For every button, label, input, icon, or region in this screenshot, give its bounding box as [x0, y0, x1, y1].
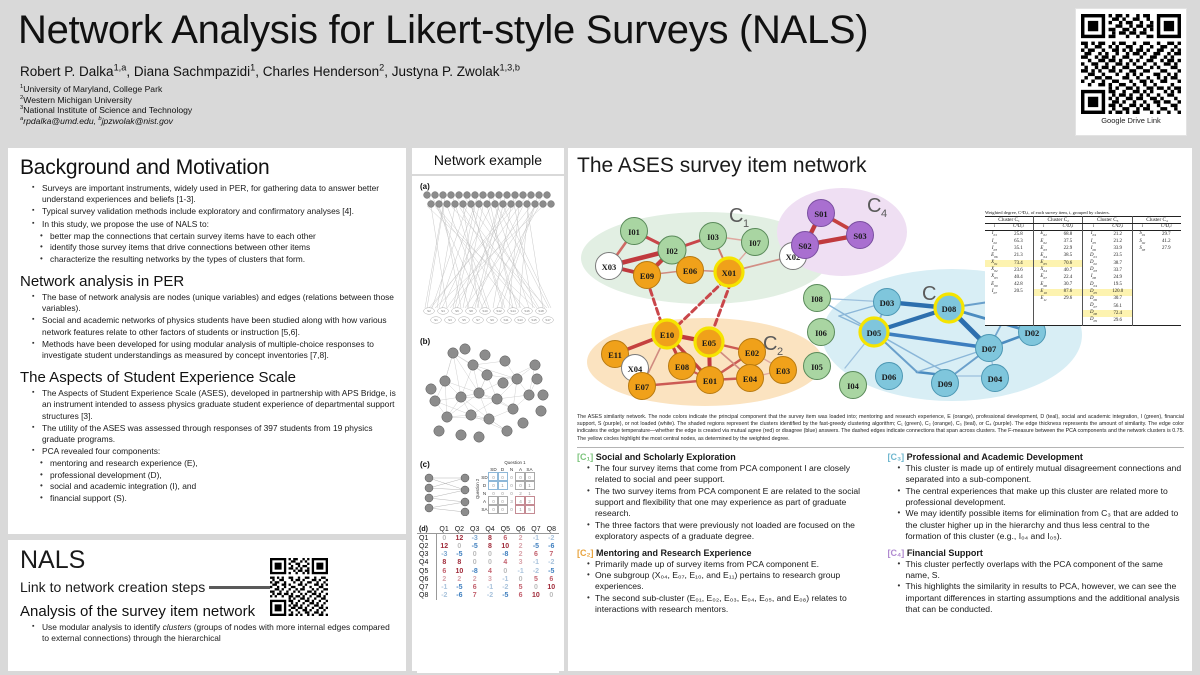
cell: -3	[467, 534, 482, 543]
qr-code-network-steps[interactable]	[270, 558, 328, 616]
cell-item	[1132, 282, 1151, 289]
col-header: i	[1132, 224, 1151, 231]
cell: 12	[452, 534, 467, 543]
qr-code-google-drive[interactable]: Google Drive Link	[1075, 8, 1187, 136]
cluster-tag: [C₁]	[577, 452, 593, 462]
col-header: SA	[525, 465, 534, 473]
cell: -1	[513, 567, 528, 575]
cell: 10	[452, 567, 467, 575]
cell-item: D06	[1083, 296, 1104, 303]
nals-panel: NALS Link to network creation steps	[8, 540, 406, 671]
background-subbullets: better map the connections that certain …	[20, 231, 396, 265]
cell: -5	[544, 567, 559, 575]
col-header: Q4	[482, 525, 497, 534]
cell: 1	[498, 481, 507, 489]
cell: 2	[513, 542, 528, 550]
svg-text:S16: S16	[524, 309, 530, 313]
cluster-heading-c3: [C₃] Professional and Academic Developme…	[888, 452, 1185, 462]
svg-text:D03: D03	[880, 298, 895, 308]
cell-item: E05	[1033, 260, 1053, 267]
svg-text:D07: D07	[982, 344, 997, 354]
cell-value: 70.6	[1053, 260, 1083, 267]
cell-value	[1152, 260, 1181, 267]
svg-text:S02: S02	[798, 241, 811, 251]
table-row: Q8-2-67-2-56100	[417, 592, 559, 600]
svg-text:D05: D05	[867, 328, 882, 338]
cell: 4	[516, 497, 525, 505]
figure-b-label: (b)	[420, 337, 430, 346]
group-header: Cluster C₃	[1083, 217, 1133, 224]
cell: -2	[436, 592, 451, 600]
cell: 0	[452, 542, 467, 550]
cell-value: 41.2	[1152, 239, 1181, 246]
analysis-bullets: Use modular analysis to identify cluster…	[20, 622, 396, 644]
cell-item	[985, 296, 1004, 303]
cell: 6	[544, 575, 559, 583]
cluster-heading-c1: [C₁] Social and Scholarly Exploration	[577, 452, 874, 462]
cell: 3	[507, 497, 516, 505]
svg-text:D04: D04	[988, 374, 1003, 384]
svg-text:S15: S15	[531, 318, 537, 322]
cell: 6	[436, 567, 451, 575]
cell-value: 68.8	[1053, 231, 1083, 239]
cell: 10	[544, 583, 559, 591]
cell: 7	[544, 551, 559, 559]
cell-value	[1004, 310, 1034, 317]
cell-value: 35.1	[1004, 246, 1034, 253]
list-item: In this study, we propose the use of NAL…	[34, 219, 396, 230]
row-header: SA	[480, 505, 489, 513]
table-row: Q62223-1056	[417, 575, 559, 583]
svg-text:S10: S10	[482, 309, 488, 313]
cell: 2	[436, 575, 451, 583]
row-header: Q8	[417, 592, 436, 600]
cluster-label-c3: C	[922, 283, 936, 305]
cell-item: X02	[985, 267, 1004, 274]
svg-text:S8: S8	[469, 309, 473, 313]
cell-value: 20.5	[1004, 289, 1034, 296]
list-item: PCA revealed four components:	[34, 446, 396, 457]
cell: 0	[498, 567, 513, 575]
cluster-column-right: [C₃] Professional and Academic Developme…	[888, 452, 1185, 621]
cluster-heading-c2: [C₂] Mentoring and Research Experience	[577, 548, 874, 558]
cell-item	[1132, 253, 1151, 260]
figure-a-svg: S2S4S6S8 S10S12S14S16S18 S1S3S5S7 S9S11S…	[417, 180, 559, 332]
cluster-tag: [C₂]	[577, 548, 594, 558]
contact-emails[interactable]: arpdalka@umd.edu, bjpzwolak@nist.gov	[20, 116, 192, 127]
cell: 3	[513, 559, 528, 567]
cell-value: 40.7	[1053, 267, 1083, 274]
svg-text:S2: S2	[427, 309, 431, 313]
svg-text:S1: S1	[434, 318, 438, 322]
list-item: The four survey items that come from PCA…	[588, 463, 874, 486]
cluster-title: Mentoring and Research Experience	[596, 548, 752, 558]
cell: -2	[482, 592, 497, 600]
cell-value: 73.4	[1004, 260, 1034, 267]
svg-text:S11: S11	[503, 318, 508, 322]
cell: 2	[516, 489, 525, 497]
list-item: The central experiences that make up thi…	[899, 486, 1185, 509]
table-row: Q3-3-500-8267	[417, 551, 559, 559]
cluster-column-left: [C₁] Social and Scholarly Exploration Th…	[577, 452, 874, 621]
list-item: characterize the resulting networks by t…	[40, 254, 396, 265]
page-title: Network Analysis for Likert-style Survey…	[18, 8, 868, 53]
qr-code-icon	[1081, 14, 1181, 114]
author-list: Robert P. Dalka1,a, Diana Sachmpazidi1, …	[20, 64, 520, 79]
col-header: Q2	[452, 525, 467, 534]
cell: 4	[482, 567, 497, 575]
list-item: social and academic integration (I), and	[40, 481, 396, 492]
cell-item: S01	[1132, 231, 1151, 239]
cell: -1	[436, 583, 451, 591]
cluster-bullets-c4: This cluster perfectly overlaps with the…	[888, 559, 1185, 616]
cell-item: E11	[1033, 296, 1053, 303]
contingency-table: SD D N A SA SD 0 0 0 0 0	[480, 465, 534, 513]
list-item: mentoring and research experience (E),	[40, 458, 396, 469]
svg-text:I03: I03	[707, 232, 719, 242]
row-header: N	[480, 489, 489, 497]
cluster-bullets-c1: The four survey items that come from PCA…	[577, 463, 874, 543]
cell-value	[1152, 253, 1181, 260]
cell: 10	[528, 592, 543, 600]
list-item: Methods have been developed for using mo…	[34, 339, 396, 361]
cell: -2	[528, 567, 543, 575]
col-header: Q1	[436, 525, 451, 534]
cell: -5	[467, 542, 482, 550]
cell: -2	[498, 583, 513, 591]
group-header: Cluster C₄	[1132, 217, 1181, 224]
svg-text:I08: I08	[811, 294, 823, 304]
col-header: Q5	[498, 525, 513, 534]
cell-value: 42.8	[1004, 282, 1034, 289]
cell-value: 38.7	[1103, 260, 1132, 267]
svg-text:S6: S6	[455, 309, 459, 313]
svg-text:D09: D09	[938, 379, 953, 389]
cell: -8	[467, 567, 482, 575]
background-bullets: Surveys are important instruments, widel…	[20, 183, 396, 230]
cell-item: I04	[1083, 231, 1104, 239]
list-item: The base of network analysis are nodes (…	[34, 292, 396, 314]
list-item: Surveys are important instruments, widel…	[34, 183, 396, 205]
list-item: We may identify possible items for elimi…	[899, 508, 1185, 542]
cell-value: 23.5	[1103, 253, 1132, 260]
cell-value: 21.2	[1103, 239, 1132, 246]
list-item: The Aspects of Student Experience Scale …	[34, 388, 396, 422]
cell: 0	[528, 583, 543, 591]
table-row: Q7-1-56-1-25010	[417, 583, 559, 591]
col-header: i	[985, 224, 1004, 231]
figure-c-graph	[421, 472, 473, 516]
cell: 1	[525, 489, 534, 497]
cell-value: 30.7	[1053, 282, 1083, 289]
cell-value	[1004, 303, 1034, 310]
contingency-row-title: Question 2	[475, 467, 480, 511]
ases-heading: The Aspects of Student Experience Scale	[20, 369, 396, 386]
svg-text:S17: S17	[545, 318, 551, 322]
row-header: Q5	[417, 567, 436, 575]
ases-bullets: The Aspects of Student Experience Scale …	[20, 388, 396, 457]
cell-item	[1132, 296, 1151, 303]
figure-c-contingency: (c) Question 1 Question 2	[417, 458, 559, 520]
svg-text:I01: I01	[628, 227, 640, 237]
cell-value: 29.6	[1053, 296, 1083, 303]
cluster-title: Professional and Academic Development	[907, 452, 1083, 462]
cell: 8	[436, 559, 451, 567]
list-item: This cluster perfectly overlaps with the…	[899, 559, 1185, 582]
list-item: The second sub-cluster (E₀₁, E₀₂, E₀₃, E…	[588, 593, 874, 616]
cell-value: 21.3	[1004, 253, 1034, 260]
table-row: E0621.3E0438.5D0123.5	[985, 253, 1181, 260]
network-per-bullets: The base of network analysis are nodes (…	[20, 292, 396, 361]
cluster-descriptions: [C₁] Social and Scholarly Exploration Th…	[577, 452, 1184, 621]
cell-value: 120.0	[1103, 289, 1132, 296]
cell: 0	[467, 559, 482, 567]
table-row: X0340.4E0722.4I0824.9	[985, 274, 1181, 281]
cell: 0	[489, 497, 498, 505]
table-row: Q4880043-1-2	[417, 559, 559, 567]
cell: 0	[482, 559, 497, 567]
table-row: N 0 0 0 2 1	[480, 489, 534, 497]
table-footer-rule	[985, 325, 1181, 326]
cell-value	[1152, 296, 1181, 303]
cell: 0	[513, 575, 528, 583]
list-item: Primarily made up of survey items from P…	[588, 559, 874, 570]
cell-value: 30.7	[1103, 296, 1132, 303]
cell-value: 22.4	[1053, 274, 1083, 281]
table-row: E1129.6D0630.7	[985, 296, 1181, 303]
row-header: A	[480, 497, 489, 505]
figure-a-bipartite-network: (a)	[417, 180, 559, 332]
cell-item: E01	[1033, 231, 1053, 239]
row-header: Q2	[417, 542, 436, 550]
cell-item: D08	[1083, 310, 1104, 317]
cell-item	[1132, 310, 1151, 317]
cell: 5	[528, 575, 543, 583]
figure-c-label: (c)	[420, 460, 430, 469]
cell-item	[985, 317, 1004, 325]
figure-d-similarity-matrix: (d) Q1 Q2 Q3 Q4 Q5 Q6 Q7 Q8 Q1012-3862-1…	[417, 523, 559, 673]
cell: 0	[525, 473, 534, 481]
cell: 5	[513, 583, 528, 591]
cell-item: E04	[1033, 253, 1053, 260]
col-header: Q8	[544, 525, 559, 534]
cell-value	[1152, 282, 1181, 289]
list-item: identify those survey items that drive c…	[40, 242, 396, 253]
cluster-tag: [C₄]	[888, 548, 905, 558]
cell-item: X03	[985, 274, 1004, 281]
weighted-degree-table: Weighted degree, CᵈD,i, of each survey i…	[985, 210, 1181, 326]
cell-value	[1152, 274, 1181, 281]
svg-text:E04: E04	[743, 374, 758, 384]
cell: 10	[498, 542, 513, 550]
cell-item: X04	[1033, 267, 1053, 274]
cell-item	[1033, 310, 1053, 317]
table-row: I0125.8E0168.8I0421.2S0129.7	[985, 231, 1181, 239]
list-item: better map the connections that certain …	[40, 231, 396, 242]
network-example-header-panel: Network example	[412, 148, 564, 174]
qr-code-icon	[270, 558, 328, 616]
cell: 0	[436, 534, 451, 543]
cell: 0	[489, 505, 498, 513]
network-example-panel: (a)	[412, 176, 564, 671]
cell: -5	[452, 583, 467, 591]
table-row: X0173.4E0570.6D0238.7	[985, 260, 1181, 267]
ases-components: mentoring and research experience (E), p…	[20, 458, 396, 504]
nals-heading: NALS	[20, 546, 396, 575]
cell: 0	[498, 497, 507, 505]
cluster-title: Financial Support	[907, 548, 983, 558]
table-row: D0929.6	[985, 317, 1181, 325]
cell: 0	[467, 551, 482, 559]
table-row: D 0 1 0 0 1	[480, 481, 534, 489]
cell-value: 40.4	[1004, 274, 1034, 281]
similarity-matrix-table: (d) Q1 Q2 Q3 Q4 Q5 Q6 Q7 Q8 Q1012-3862-1…	[417, 525, 559, 600]
analysis-heading: Analysis of the survey item network	[20, 603, 396, 620]
cell-value: 24.9	[1103, 274, 1132, 281]
cell-item: I06	[1083, 246, 1104, 253]
cell: -1	[498, 575, 513, 583]
table-row: I0265.3E0237.5I0521.2S0241.2	[985, 239, 1181, 246]
cell-item	[1033, 303, 1053, 310]
cluster-label-c1: C	[729, 205, 743, 227]
table-row: D0872.4	[985, 310, 1181, 317]
cell-item: D01	[1083, 253, 1104, 260]
row-header: D	[480, 481, 489, 489]
svg-text:I07: I07	[749, 238, 762, 248]
cell-item: S03	[1132, 246, 1151, 253]
svg-text:E03: E03	[776, 366, 790, 376]
list-item: The utility of the ASES was assessed thr…	[34, 423, 396, 445]
nals-link-label: Link to network creation steps	[20, 579, 205, 595]
list-item: Typical survey validation methods includ…	[34, 206, 396, 217]
right-column-panel: The ASES survey item network C 1 C 2 C 3	[568, 148, 1192, 671]
svg-text:I02: I02	[666, 246, 678, 256]
cluster-tag: [C₃]	[888, 452, 905, 462]
cell: -5	[528, 542, 543, 550]
cell-item	[1132, 267, 1151, 274]
cluster-title: Social and Scholarly Exploration	[596, 452, 736, 462]
cell-item	[1132, 303, 1151, 310]
cell-item: E07	[1033, 274, 1053, 281]
table-row: A 0 0 3 4 2	[480, 497, 534, 505]
weighted-degree-caption: Weighted degree, CᵈD,i, of each survey i…	[985, 210, 1181, 215]
qr-caption: Google Drive Link	[1081, 116, 1181, 125]
col-header: Q6	[513, 525, 528, 534]
col-header: Q3	[467, 525, 482, 534]
cell: 0	[516, 481, 525, 489]
cell-value	[1152, 317, 1181, 325]
cell-item	[1132, 260, 1151, 267]
cell: 1	[516, 505, 525, 513]
cell: 2	[513, 534, 528, 543]
affiliation-2: 2Western Michigan University	[20, 95, 192, 106]
cell-item: D07	[1083, 303, 1104, 310]
list-item: Use modular analysis to identify cluster…	[34, 622, 396, 644]
list-item: This cluster is made up of entirely mutu…	[899, 463, 1185, 486]
svg-text:D06: D06	[882, 372, 897, 382]
cell: 0	[489, 489, 498, 497]
cell-value: 33.9	[1103, 246, 1132, 253]
col-header: A	[516, 465, 525, 473]
table-row: SA 0 0 0 1 5	[480, 505, 534, 513]
svg-text:E01: E01	[703, 376, 717, 386]
cell: 12	[436, 542, 451, 550]
cell: 2	[452, 575, 467, 583]
cell: 2	[513, 551, 528, 559]
cell-value: 38.5	[1053, 253, 1083, 260]
cell: 2	[467, 575, 482, 583]
cell: 8	[452, 559, 467, 567]
figure-b-projected-network: (b)	[417, 335, 559, 455]
table-row: X0223.6X0440.7D0333.7	[985, 267, 1181, 274]
cell-value: 56.1	[1103, 303, 1132, 310]
cell-value: 25.8	[1004, 231, 1034, 239]
table-row: E0942.8E0830.7D0419.5	[985, 282, 1181, 289]
cell: -8	[498, 551, 513, 559]
cell-value	[1053, 310, 1083, 317]
cell: 6	[528, 551, 543, 559]
col-header: i	[1033, 224, 1053, 231]
background-heading: Background and Motivation	[20, 156, 396, 180]
cell-value: 19.5	[1103, 282, 1132, 289]
col-header: D	[498, 465, 507, 473]
cell-item: E02	[1033, 239, 1053, 246]
svg-text:E06: E06	[683, 266, 697, 276]
svg-text:E08: E08	[675, 362, 689, 372]
cell-item	[1033, 317, 1053, 325]
cell-item: E09	[985, 282, 1004, 289]
svg-text:I04: I04	[847, 381, 860, 391]
cell-item: D09	[1083, 317, 1104, 325]
nals-link-row: Link to network creation steps	[20, 579, 396, 595]
list-item: The three factors that were previously n…	[588, 520, 874, 543]
svg-text:S7: S7	[476, 318, 480, 322]
cell-value: 23.6	[1004, 267, 1034, 274]
cell-item	[1132, 274, 1151, 281]
cell-value: 37.5	[1053, 239, 1083, 246]
col-header: i	[1083, 224, 1104, 231]
list-item: financial support (S).	[40, 493, 396, 504]
row-header: SD	[480, 473, 489, 481]
cell: -2	[544, 534, 559, 543]
cell: 0	[507, 481, 516, 489]
list-item: The two survey items from PCA component …	[588, 486, 874, 520]
cell-item: D05	[1083, 289, 1104, 296]
cell: 0	[489, 481, 498, 489]
table-row: Q5610-840-1-2-5	[417, 567, 559, 575]
cell-item: I05	[1083, 239, 1104, 246]
cell: -2	[544, 559, 559, 567]
cell-value: 21.2	[1103, 231, 1132, 239]
cell: 8	[482, 542, 497, 550]
cell: 3	[482, 575, 497, 583]
cell: 6	[513, 592, 528, 600]
cell: 2	[525, 497, 534, 505]
cell-item: I08	[1083, 274, 1104, 281]
cell: 6	[467, 583, 482, 591]
cell-value: 33.7	[1103, 267, 1132, 274]
svg-text:S5: S5	[462, 318, 466, 322]
affiliation-3: 3National Institute of Science and Techn…	[20, 105, 192, 116]
cell-item: I03	[985, 246, 1004, 253]
cluster-label-c4: C	[867, 195, 881, 217]
cell-value	[1004, 296, 1034, 303]
cell: 8	[482, 534, 497, 543]
cell-value	[1053, 317, 1083, 325]
left-column-top-panel: Background and Motivation Surveys are im…	[8, 148, 406, 534]
cell-item: I07	[985, 289, 1004, 296]
cell: 7	[467, 592, 482, 600]
